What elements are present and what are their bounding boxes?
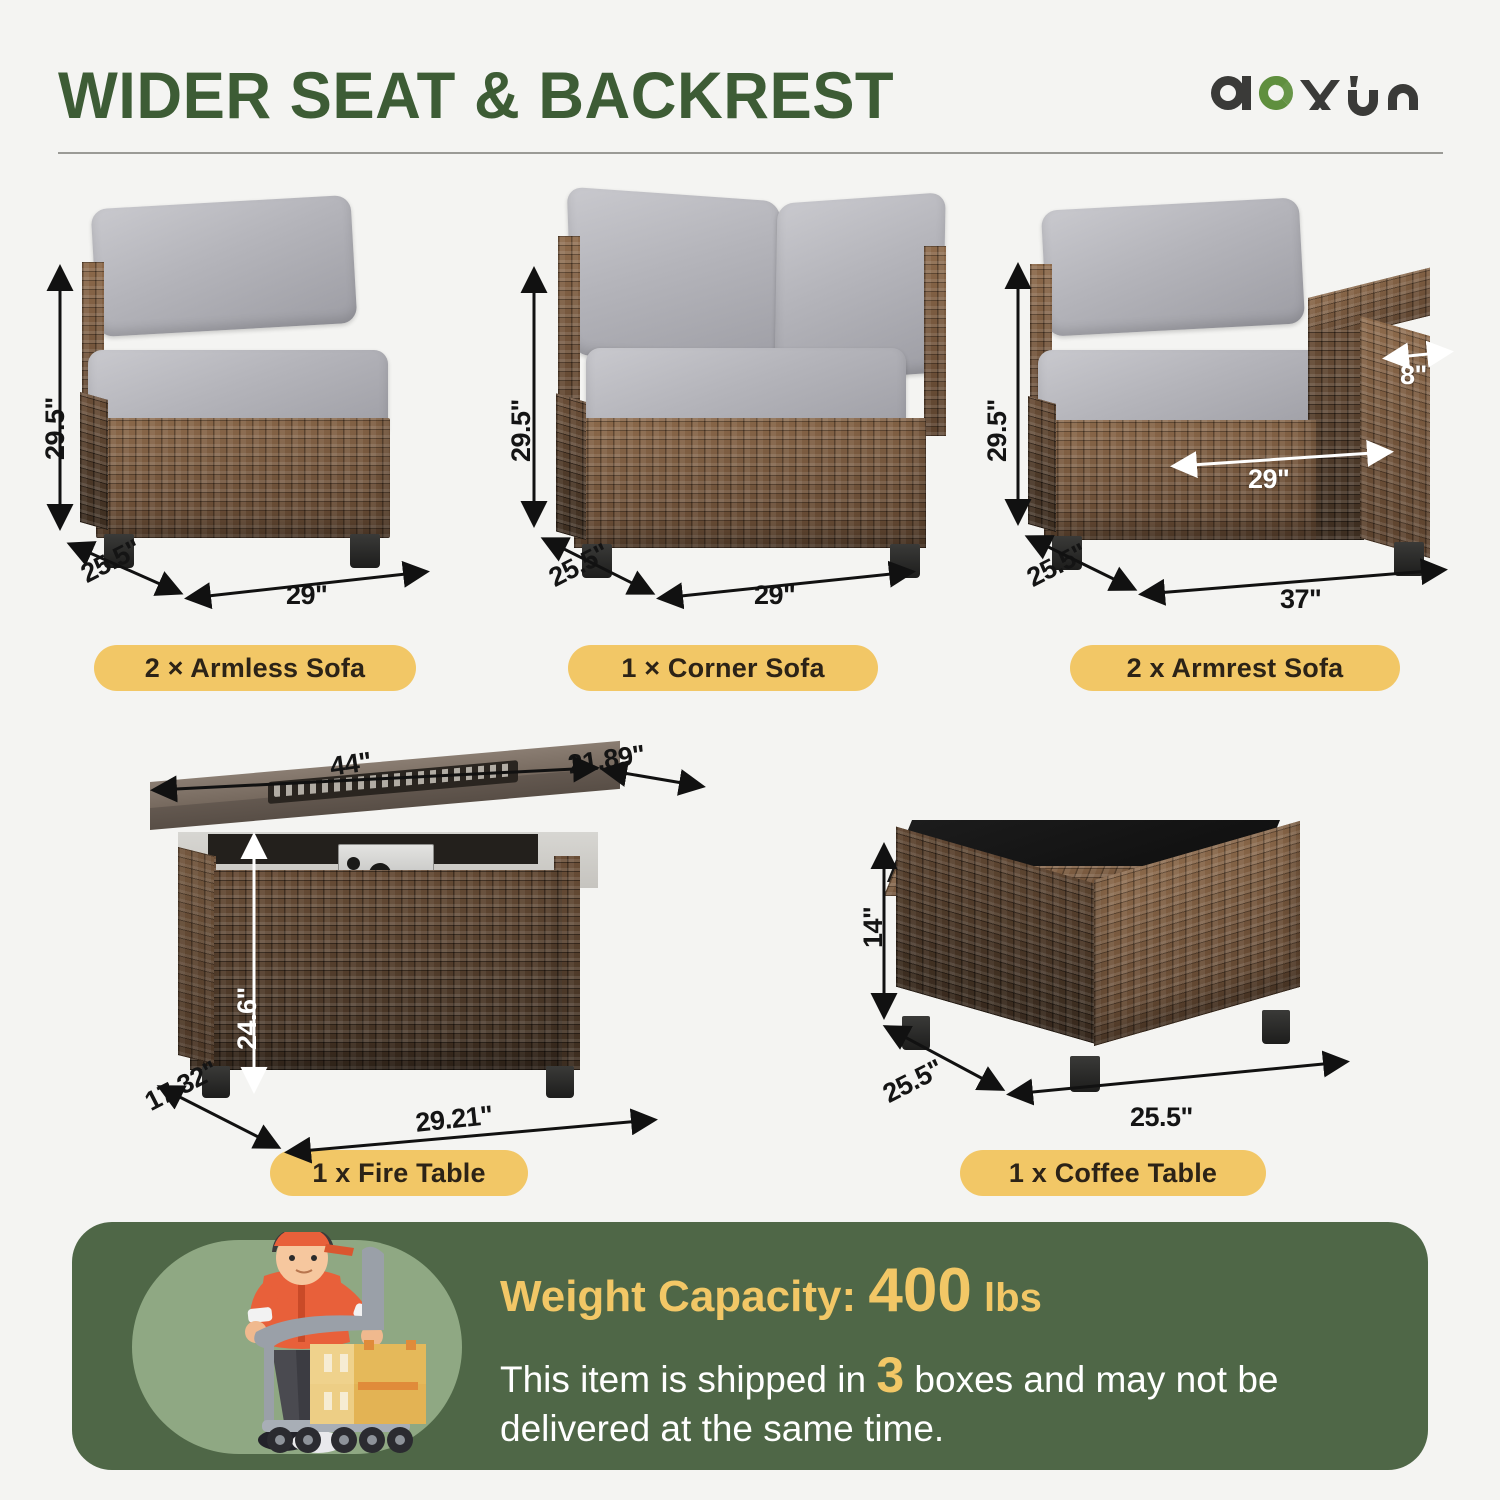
- dim-armrest-seat-width: 29": [1248, 464, 1289, 495]
- page-title: WIDER SEAT & BACKREST: [58, 57, 894, 133]
- dim-armless-height: 29.5": [40, 397, 71, 460]
- base-front: [574, 418, 926, 548]
- weight-capacity-value: 400: [868, 1256, 971, 1325]
- fire-table-side: [178, 847, 214, 1064]
- foot-right: [890, 544, 920, 578]
- dim-armrest-height: 29.5": [982, 399, 1013, 462]
- back-cushion: [1041, 197, 1305, 336]
- dim-coffee-width: 25.5": [1130, 1102, 1193, 1133]
- base-side: [1028, 396, 1056, 532]
- foot-right: [1394, 542, 1424, 576]
- foot-front: [1070, 1056, 1100, 1092]
- foot-right: [1262, 1010, 1290, 1044]
- frame-back-right: [924, 246, 946, 436]
- base-side: [556, 393, 586, 540]
- weight-capacity-unit: lbs: [984, 1276, 1042, 1320]
- foot-left: [902, 1016, 930, 1050]
- base-side: [80, 392, 108, 530]
- dim-fire-base-depth: 17.32": [140, 1055, 223, 1118]
- dim-coffee-height: 14": [858, 907, 889, 948]
- dim-armrest-arm-width: 8": [1400, 360, 1427, 391]
- back-cushion-left: [567, 187, 786, 370]
- dim-armrest-width: 37": [1280, 584, 1321, 615]
- delivery-person-icon: [168, 1232, 458, 1470]
- dim-corner-width: 29": [754, 580, 795, 611]
- dim-corner-height: 29.5": [506, 399, 537, 462]
- shipping-prefix: This item is shipped in: [500, 1359, 866, 1400]
- shipping-note: This item is shipped in 3 boxes and may …: [500, 1345, 1380, 1451]
- weight-capacity-line: Weight Capacity: 400 lbs: [500, 1255, 1042, 1326]
- back-cushion: [91, 195, 358, 337]
- label-armrest-sofa: 2 x Armrest Sofa: [1070, 645, 1400, 691]
- shipping-box-count: 3: [876, 1347, 904, 1403]
- dim-fire-height: 24.6": [232, 987, 263, 1050]
- product-fire-table: 44" 21.89" 24.6" 17.32" 29.21": [150, 760, 670, 1140]
- foot-right: [546, 1066, 574, 1098]
- header-divider: [58, 152, 1443, 154]
- dim-fire-top-length: 44": [328, 746, 373, 782]
- burner-knob-small[interactable]: [347, 857, 360, 870]
- product-corner-sofa: 29.5" 25.5" 29": [528, 180, 968, 610]
- foot-right: [350, 534, 380, 568]
- label-coffee-table: 1 x Coffee Table: [960, 1150, 1266, 1196]
- weight-capacity-label: Weight Capacity:: [500, 1272, 856, 1321]
- aoxun-logo-icon: [1198, 62, 1438, 124]
- dim-armless-width: 29": [286, 580, 327, 611]
- header: WIDER SEAT & BACKREST: [0, 0, 1500, 150]
- brand-logo: [1198, 62, 1438, 124]
- dim-fire-base-length: 29.21": [414, 1100, 494, 1139]
- product-armless-sofa: 29.5" 25.5" 29": [58, 190, 478, 610]
- dim-coffee-depth: 25.5": [878, 1053, 948, 1109]
- base-front: [96, 418, 390, 538]
- product-coffee-table: 14" 25.5" 25.5": [880, 820, 1350, 1120]
- product-armrest-sofa: 29.5" 8" 29" 25.5" 37": [1008, 190, 1458, 610]
- armrest-front: [1308, 330, 1364, 540]
- label-corner-sofa: 1 × Corner Sofa: [568, 645, 878, 691]
- infographic-page: WIDER SEAT & BACKREST: [0, 0, 1500, 1500]
- armrest-side: [1360, 316, 1430, 558]
- label-fire-table: 1 x Fire Table: [270, 1150, 528, 1196]
- label-armless-sofa: 2 × Armless Sofa: [94, 645, 416, 691]
